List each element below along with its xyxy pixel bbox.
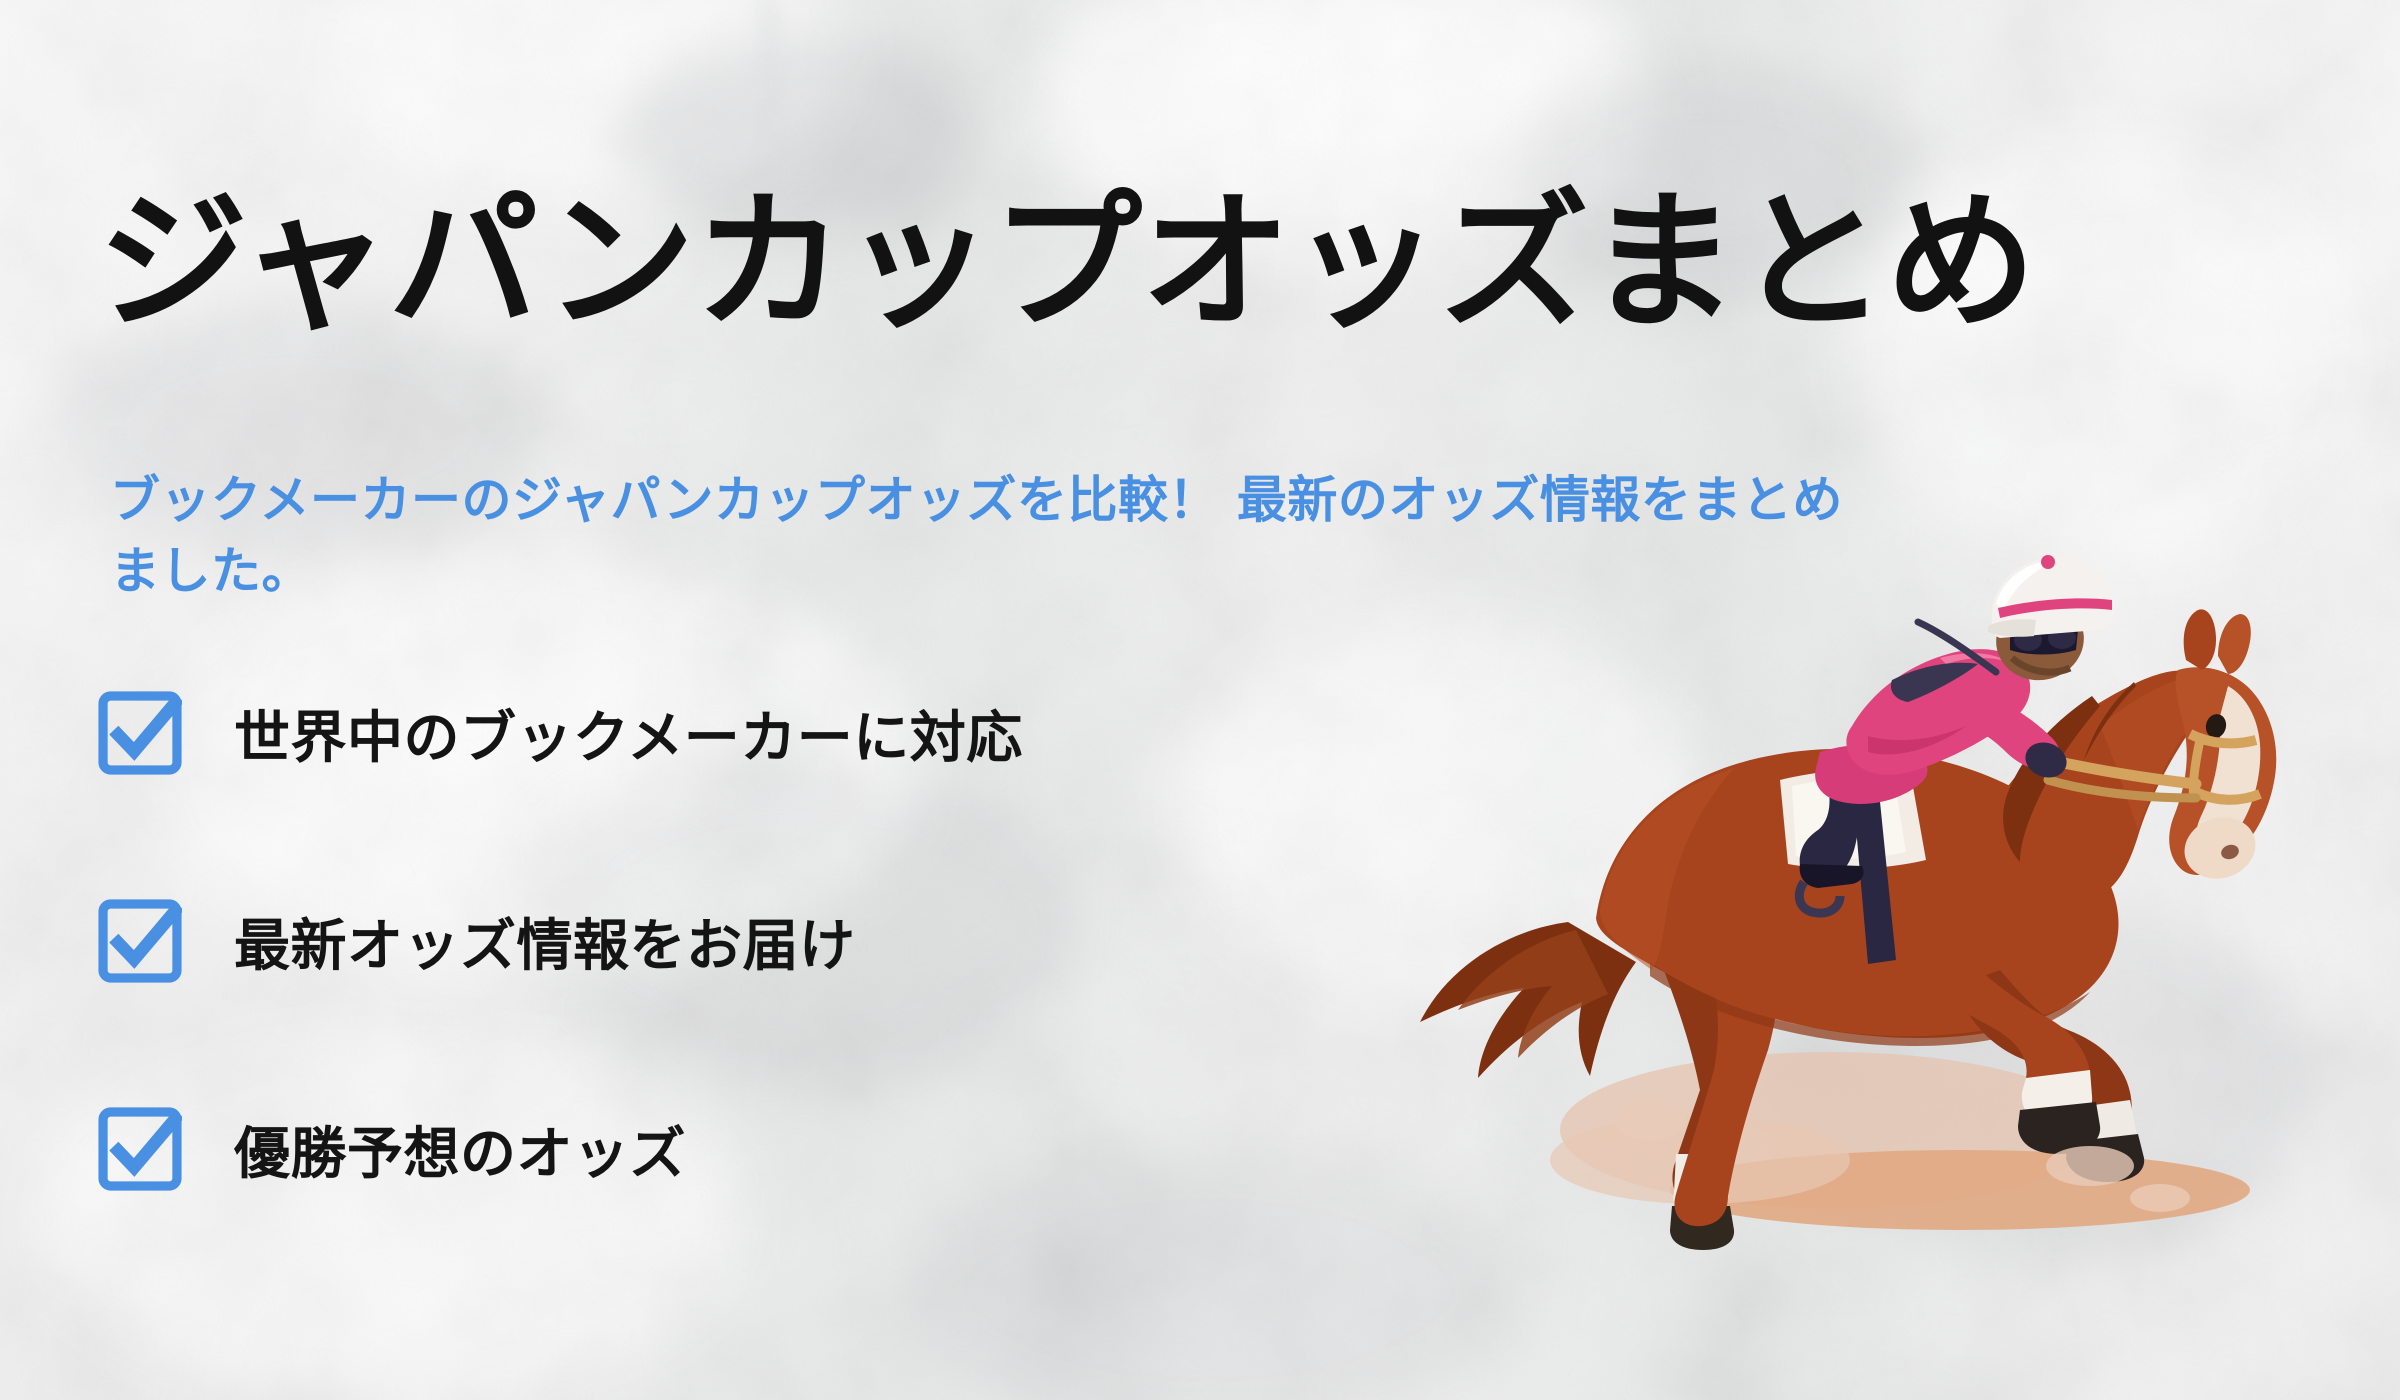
list-item-label: 世界中のブックメーカーに対応: [234, 693, 1023, 774]
list-item-label: 優勝予想のオッズ: [234, 1109, 686, 1190]
jockey-helmet: [1988, 555, 2114, 638]
checkbox-checked-icon: [98, 691, 182, 775]
feature-list: 世界中のブックメーカーに対応 最新オッズ情報をお届け 優勝予想のオッズ: [98, 690, 1398, 1192]
checkbox-checked-icon: [98, 1107, 182, 1191]
list-item[interactable]: 世界中のブックメーカーに対応: [98, 690, 1398, 776]
page-title: ジャパンカップオッズまとめ: [98, 185, 2035, 343]
list-item[interactable]: 優勝予想のオッズ: [98, 1106, 1398, 1192]
jockey-riding-galloping-horse-illustration: [1400, 530, 2300, 1290]
list-item[interactable]: 最新オッズ情報をお届け: [98, 898, 1398, 984]
slide-canvas: ジャパンカップオッズまとめ ブックメーカーのジャパンカップオッズを比較！ 最新の…: [0, 0, 2400, 1400]
horse-tail: [1420, 922, 1636, 1078]
horse-head: [2169, 609, 2276, 887]
list-item-label: 最新オッズ情報をお届け: [234, 901, 856, 982]
checkbox-checked-icon: [98, 899, 182, 983]
